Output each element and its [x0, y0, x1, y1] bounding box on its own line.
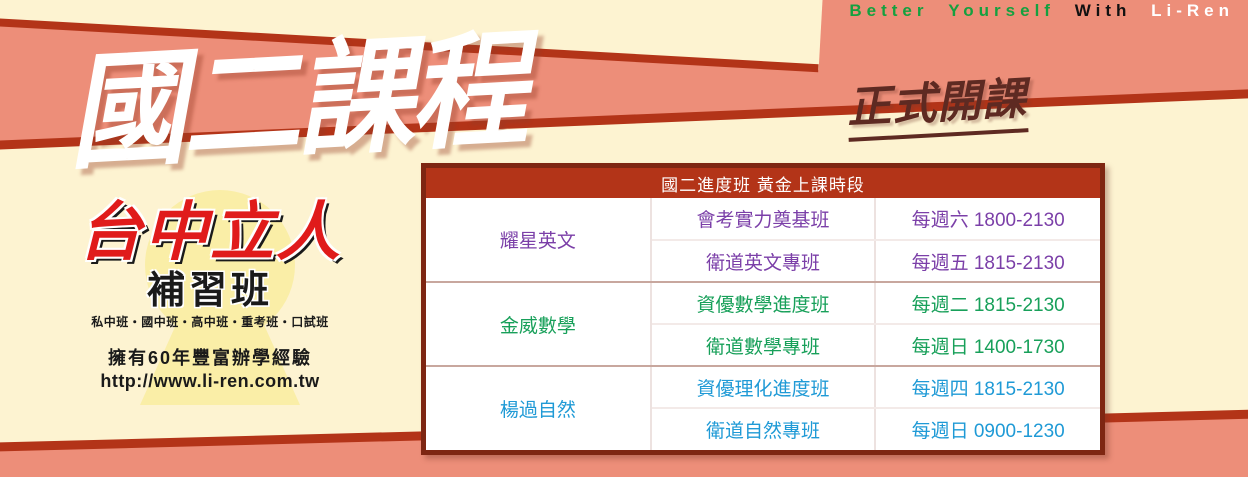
tagline: Better Yourself With Li-Ren — [849, 1, 1234, 21]
course-cell: 會考實力奠基班 — [651, 198, 876, 240]
schedule-table-container: 國二進度班 黃金上課時段 耀星英文 會考實力奠基班 每週六 1800-2130 … — [421, 163, 1105, 455]
table-row: 金威數學 資優數學進度班 每週二 1815-2130 — [426, 282, 1100, 324]
course-cell: 衛道數學專班 — [651, 324, 876, 366]
course-cell: 衛道英文專班 — [651, 240, 876, 282]
tagline-word-with: With — [1075, 1, 1132, 20]
subject-cell-math: 金威數學 — [426, 282, 651, 366]
logo-brand-type: 補習班 — [40, 269, 380, 311]
promo-banner: Better Yourself With Li-Ren 國二課程 正式開課 台中… — [0, 0, 1248, 477]
course-cell: 資優理化進度班 — [651, 366, 876, 408]
time-cell: 每週六 1800-2130 — [875, 198, 1100, 240]
logo-brand-name: 台中立人 — [40, 195, 380, 265]
course-cell: 資優數學進度班 — [651, 282, 876, 324]
schedule-table-title: 國二進度班 黃金上課時段 — [426, 168, 1100, 198]
time-cell: 每週日 1400-1730 — [875, 324, 1100, 366]
logo-experience: 擁有60年豐富辦學經驗 — [40, 344, 380, 370]
schedule-table: 國二進度班 黃金上課時段 耀星英文 會考實力奠基班 每週六 1800-2130 … — [426, 168, 1100, 450]
time-cell: 每週二 1815-2130 — [875, 282, 1100, 324]
tagline-word-yourself: Yourself — [948, 1, 1055, 20]
subject-cell-science: 楊過自然 — [426, 366, 651, 450]
subject-cell-english: 耀星英文 — [426, 198, 651, 282]
tagline-word-better: Better — [849, 1, 928, 20]
logo-class-list: 私中班・國中班・高中班・重考班・口試班 — [40, 313, 380, 330]
logo-website-url: http://www.li-ren.com.tw — [40, 371, 380, 392]
page-title-subtitle: 正式開課 — [845, 62, 1029, 142]
table-row: 楊過自然 資優理化進度班 每週四 1815-2130 — [426, 366, 1100, 408]
course-cell: 衛道自然專班 — [651, 408, 876, 450]
tagline-word-liren: Li-Ren — [1151, 1, 1234, 20]
time-cell: 每週五 1815-2130 — [875, 240, 1100, 282]
time-cell: 每週日 0900-1230 — [875, 408, 1100, 450]
table-header-row: 國二進度班 黃金上課時段 — [426, 168, 1100, 198]
logo: 台中立人 補習班 私中班・國中班・高中班・重考班・口試班 擁有60年豐富辦學經驗… — [40, 195, 380, 420]
table-row: 耀星英文 會考實力奠基班 每週六 1800-2130 — [426, 198, 1100, 240]
time-cell: 每週四 1815-2130 — [875, 366, 1100, 408]
